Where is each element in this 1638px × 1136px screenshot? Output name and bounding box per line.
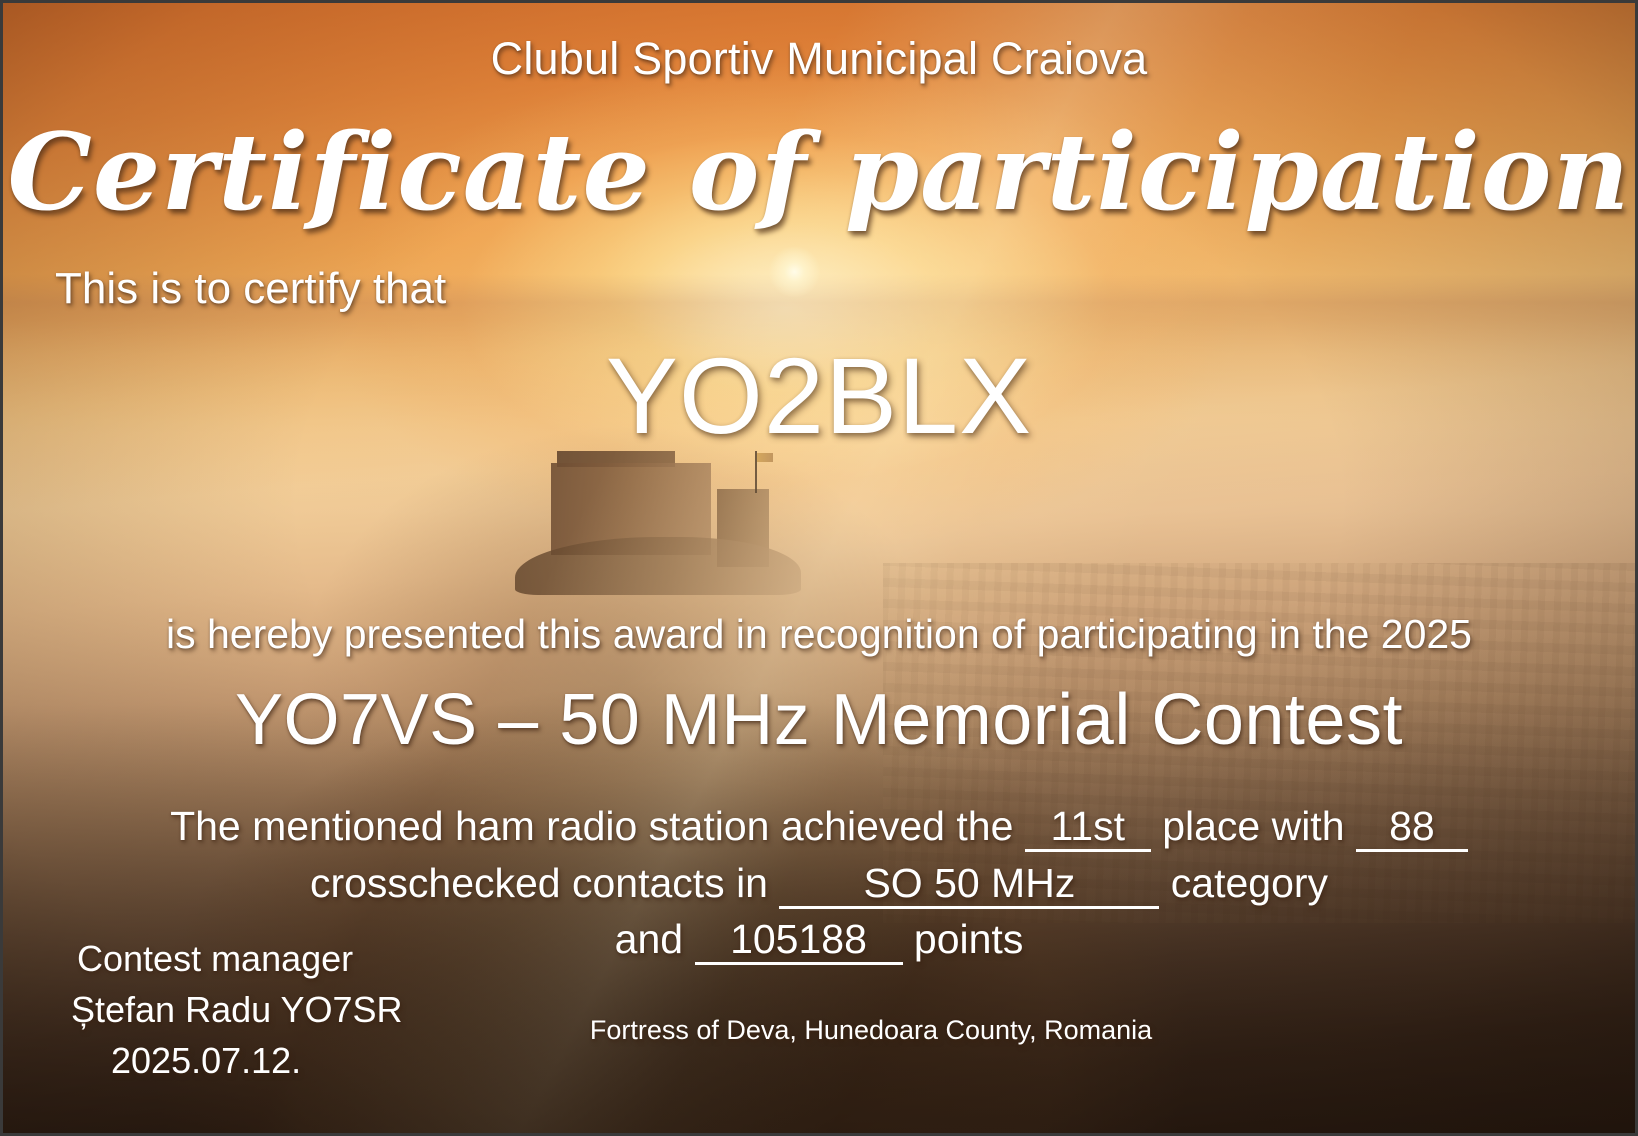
contest-manager-block: Contest manager Ștefan Radu YO7SR 2025.0… — [71, 933, 403, 1086]
result-line2-prefix: crosschecked contacts in — [310, 860, 768, 906]
result-line3-suffix: points — [914, 916, 1023, 962]
certificate-title: Certificate of participation — [3, 111, 1635, 233]
result-line1-middle: place with — [1162, 803, 1344, 849]
certificate: Clubul Sportiv Municipal Craiova Certifi… — [0, 0, 1638, 1136]
result-line-place: The mentioned ham radio station achieved… — [3, 798, 1635, 855]
club-name: Clubul Sportiv Municipal Craiova — [3, 33, 1635, 85]
contest-name: YO7VS – 50 MHz Memorial Contest — [3, 679, 1635, 761]
result-line-category: crosschecked contacts in SO 50 MHz categ… — [3, 855, 1635, 912]
result-line1-prefix: The mentioned ham radio station achieved… — [170, 803, 1013, 849]
category-value: SO 50 MHz — [779, 862, 1159, 909]
certify-intro-text: This is to certify that — [55, 264, 446, 314]
certificate-content: Clubul Sportiv Municipal Craiova Certifi… — [3, 3, 1635, 1133]
contacts-value: 88 — [1356, 805, 1468, 852]
award-presentation-text: is hereby presented this award in recogn… — [3, 611, 1635, 658]
result-line3-prefix: and — [615, 916, 683, 962]
points-value: 105188 — [695, 918, 903, 965]
place-value: 11st — [1025, 805, 1151, 852]
result-line2-suffix: category — [1171, 860, 1328, 906]
location-caption: Fortress of Deva, Hunedoara County, Roma… — [55, 1015, 1638, 1046]
contest-manager-role: Contest manager — [71, 933, 403, 984]
recipient-callsign: YO2BLX — [3, 333, 1635, 458]
